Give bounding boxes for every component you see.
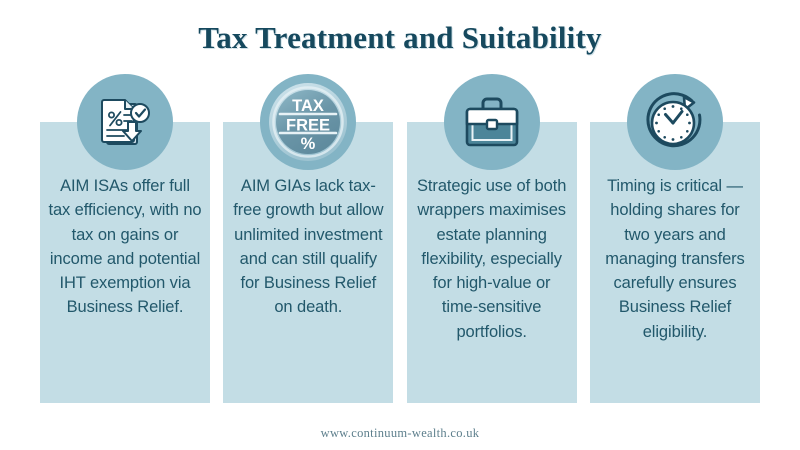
- tax-document-check-icon: [77, 74, 173, 170]
- tax-free-badge-line-3: %: [301, 135, 316, 153]
- infographic-canvas: Tax Treatment and Suitability: [0, 0, 800, 450]
- card-row: AIM ISAs offer full tax efficiency, with…: [40, 122, 760, 403]
- card-aim-isas[interactable]: AIM ISAs offer full tax efficiency, with…: [40, 122, 210, 403]
- briefcase-icon: [444, 74, 540, 170]
- footer-url[interactable]: www.continuum-wealth.co.uk: [0, 426, 800, 441]
- card-body-text: AIM ISAs offer full tax efficiency, with…: [47, 174, 203, 320]
- card-body-text: Timing is critical — holding shares for …: [597, 174, 753, 344]
- card-body-text: AIM GIAs lack tax-free growth but allow …: [230, 174, 386, 320]
- card-body-text: Strategic use of both wrappers maximises…: [414, 174, 570, 344]
- tax-free-badge-icon: TAX FREE %: [260, 74, 356, 170]
- page-title: Tax Treatment and Suitability: [0, 20, 800, 56]
- card-aim-gias[interactable]: TAX FREE % AIM GIAs lack tax-free growth…: [223, 122, 393, 403]
- tax-free-badge-line-1: TAX: [292, 97, 324, 115]
- clock-arrow-icon: [627, 74, 723, 170]
- card-strategic-use[interactable]: Strategic use of both wrappers maximises…: [407, 122, 577, 403]
- tax-free-badge-line-2: FREE: [286, 117, 330, 135]
- card-timing[interactable]: Timing is critical — holding shares for …: [590, 122, 760, 403]
